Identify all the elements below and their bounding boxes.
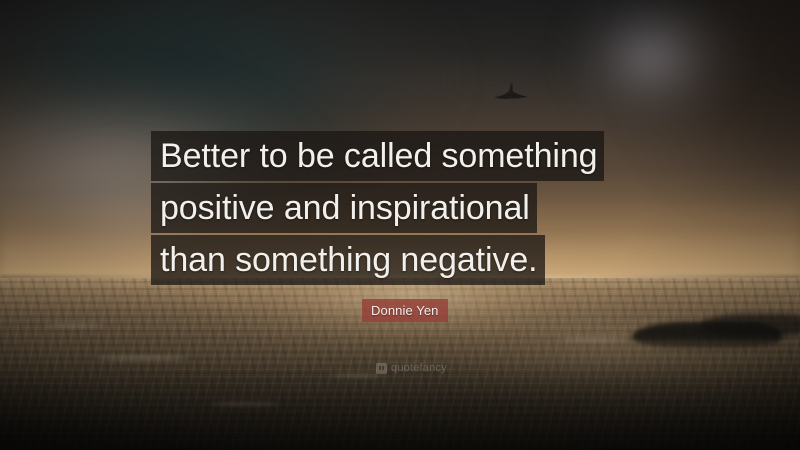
rock-outcrop-secondary [700, 314, 800, 336]
watermark-label: quotefancy [391, 362, 447, 374]
quote-line: positive and inspirational [151, 183, 537, 233]
quote-wallpaper: Better to be called something positive a… [0, 0, 800, 450]
watermark: quotefancy [376, 362, 447, 374]
cloud-lavender-patch [568, 0, 758, 128]
foam-streak [560, 338, 626, 341]
quote-text: Better to be called something positive a… [151, 131, 651, 287]
bird-silhouette-icon [492, 80, 530, 104]
quote-line: Better to be called something [151, 131, 604, 181]
author-attribution: Donnie Yen [362, 299, 448, 322]
quotefancy-logo-icon [376, 363, 387, 374]
foam-streak [44, 324, 104, 327]
quote-line: than something negative. [151, 235, 545, 285]
